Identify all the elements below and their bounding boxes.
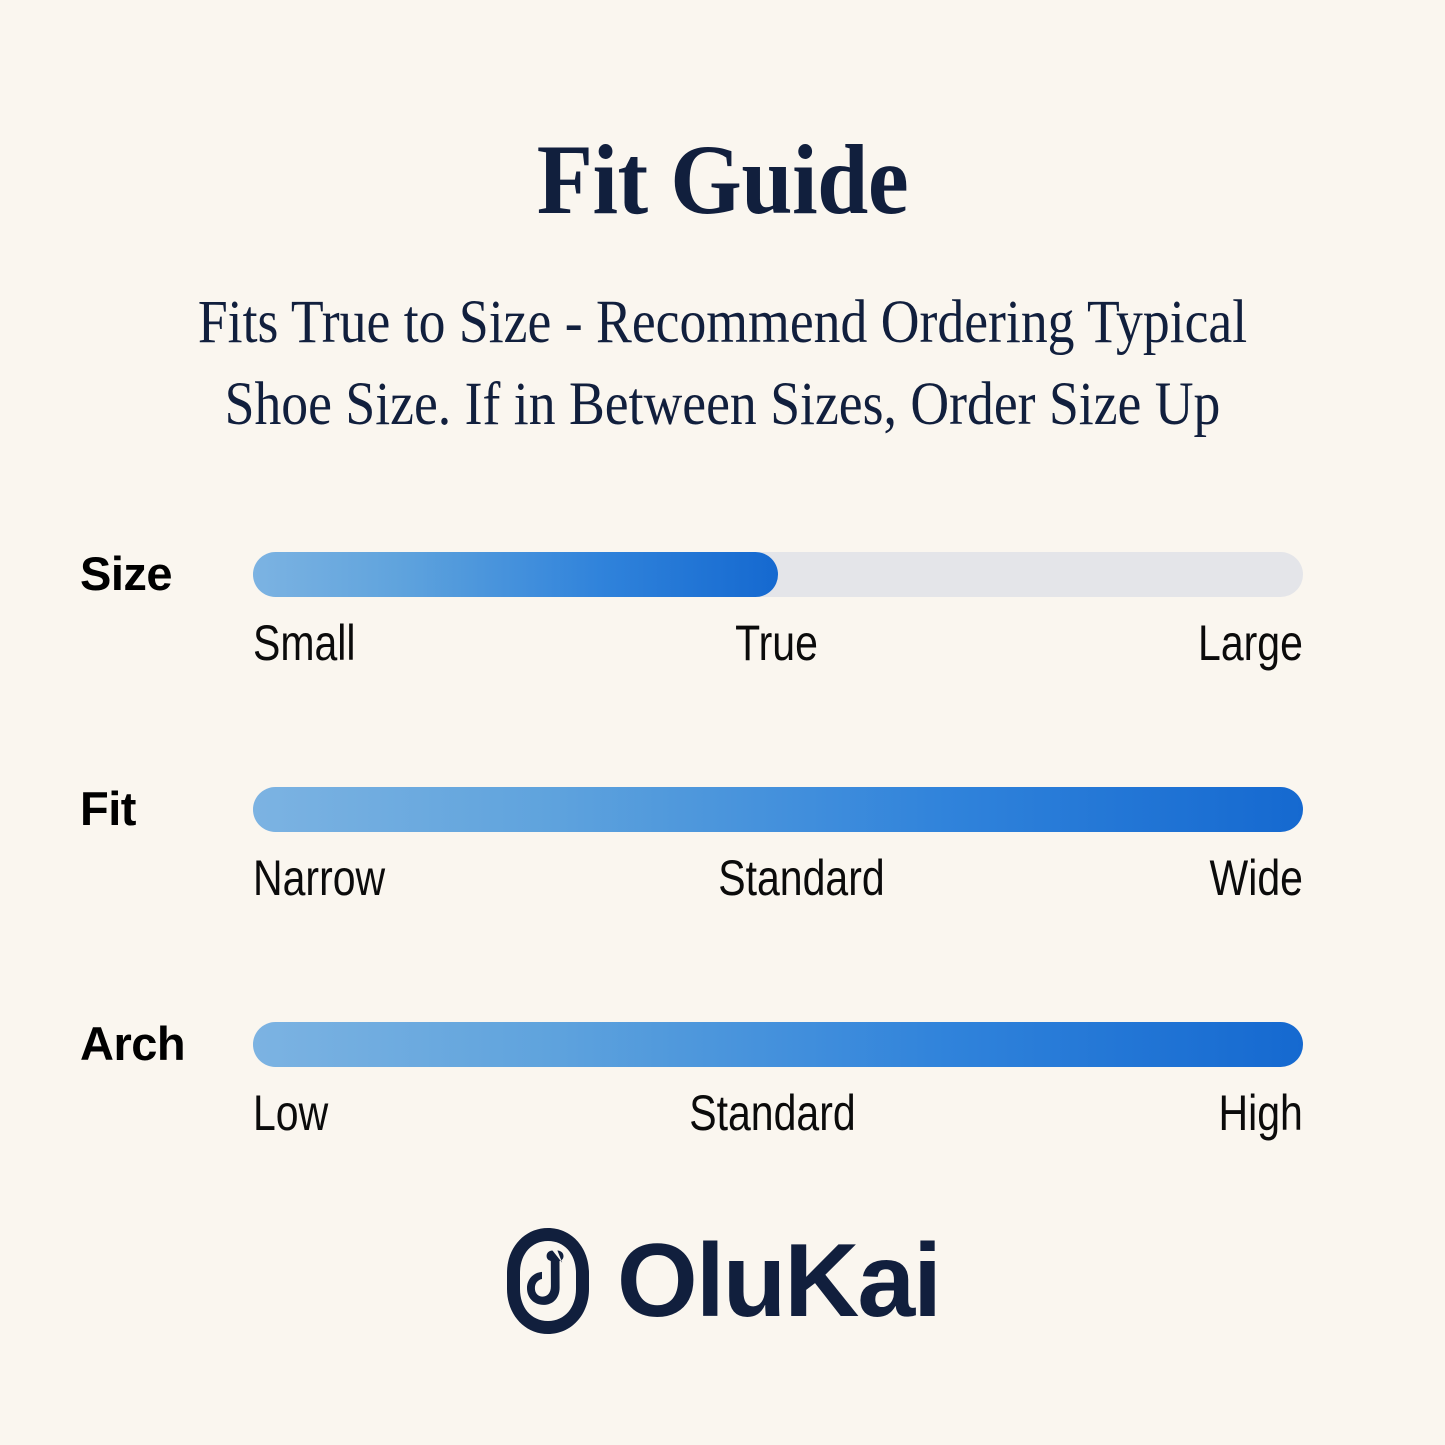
scale-label-end-size: Large: [1198, 618, 1303, 668]
scale-label-end-arch: High: [1219, 1088, 1303, 1138]
meter-scale-size: Small True Large: [253, 618, 1303, 668]
meter-row-size: Size Small True Large: [0, 528, 1445, 763]
meter-label-fit: Fit: [80, 785, 240, 832]
fit-guide-page: Fit Guide Fits True to Size - Recommend …: [0, 0, 1445, 1445]
fishhook-icon: [505, 1228, 591, 1334]
meter-row-fit: Fit Narrow Standard Wide: [0, 763, 1445, 998]
scale-label-start-size: Small: [253, 618, 356, 668]
meter-row-arch: Arch Low Standard High: [0, 998, 1445, 1233]
meter-scale-arch: Low Standard High: [253, 1088, 1303, 1138]
scale-label-start-arch: Low: [253, 1088, 328, 1138]
meter-fill-size: [253, 552, 778, 597]
fit-meters: Size Small True Large Fit Narrow Standar…: [0, 528, 1445, 1233]
page-title: Fit Guide: [58, 130, 1387, 230]
scale-label-start-fit: Narrow: [253, 853, 385, 903]
meter-track-arch: [253, 1022, 1303, 1067]
meter-track-fit: [253, 787, 1303, 832]
brand-name: OluKai: [617, 1229, 940, 1333]
scale-label-mid-arch: Standard: [689, 1088, 855, 1138]
meter-label-size: Size: [80, 550, 240, 597]
meter-scale-fit: Narrow Standard Wide: [253, 853, 1303, 903]
brand-logo: OluKai: [0, 1228, 1445, 1334]
meter-track-size: [253, 552, 1303, 597]
scale-label-end-fit: Wide: [1210, 853, 1303, 903]
meter-fill-fit: [253, 787, 1303, 832]
page-subtitle: Fits True to Size - Recommend Ordering T…: [87, 230, 1359, 447]
scale-label-mid-fit: Standard: [718, 853, 884, 903]
header: Fit Guide Fits True to Size - Recommend …: [0, 130, 1445, 447]
scale-label-mid-size: True: [735, 618, 818, 668]
meter-label-arch: Arch: [80, 1020, 240, 1067]
meter-fill-arch: [253, 1022, 1303, 1067]
